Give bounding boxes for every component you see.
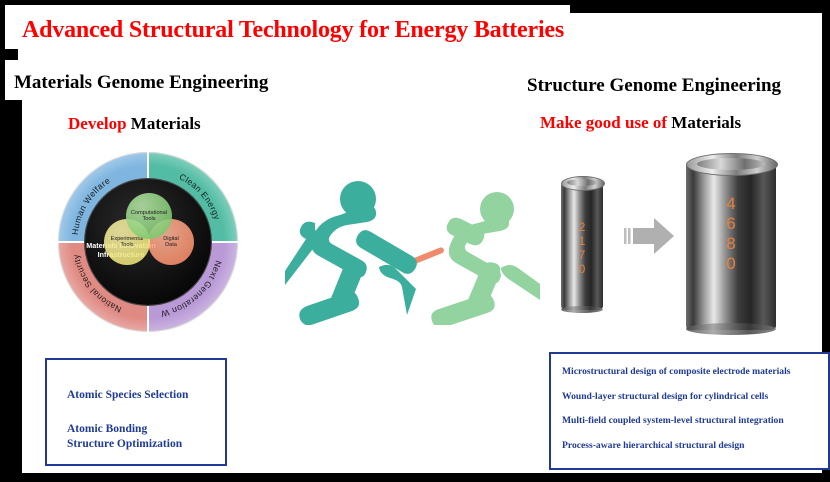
- battery-cell-4680: 4680: [686, 162, 776, 330]
- left-outcome-line-2a: Atomic Bonding: [67, 422, 182, 437]
- battery-2170-label: 2170: [561, 220, 603, 277]
- left-column-heading: Materials Genome Engineering: [14, 72, 268, 94]
- list-item: Multi-field coupled system-level structu…: [562, 415, 820, 426]
- materials-innovation-infographic: Human Welfare Clean Energy Next Generati…: [58, 152, 238, 332]
- battery-cell-2170: 2170: [561, 182, 603, 310]
- right-column-heading: Structure Genome Engineering: [527, 75, 781, 97]
- page-title: Advanced Structural Technology for Energ…: [22, 17, 564, 44]
- battery-4680-label: 4680: [686, 194, 776, 274]
- relay-baton-pass-icon: [285, 175, 540, 325]
- runner-receiving: [431, 192, 540, 325]
- right-column-subheading: Make good use of Materials: [540, 113, 741, 133]
- runner-handing-off: [285, 181, 417, 325]
- battery-4680-terminal: [697, 158, 765, 170]
- venn-label-computational-2: Tools: [131, 216, 167, 222]
- list-item: Wound-layer structural design for cylind…: [562, 391, 820, 402]
- slide-frame: Advanced Structural Technology for Energ…: [0, 0, 830, 482]
- left-outcome-line-2b: Structure Optimization: [67, 437, 182, 452]
- right-outcome-box: Microstructural design of composite elec…: [549, 352, 830, 470]
- left-outcome-group-2: Atomic Bonding Structure Optimization: [67, 422, 182, 451]
- left-subheading-rest: Materials: [127, 114, 201, 133]
- right-arrow-icon: [624, 212, 676, 260]
- battery-2170-terminal: [567, 179, 597, 186]
- slide-content: Advanced Structural Technology for Energ…: [0, 0, 830, 482]
- left-outcome-box: Atomic Species Selection Atomic Bonding …: [45, 358, 227, 466]
- battery-2170-base: [561, 306, 603, 313]
- venn-circle-computational-tools: Computational Tools: [126, 193, 172, 239]
- venn-label-experimental-2: Tools: [111, 242, 144, 248]
- right-outcome-list: Microstructural design of composite elec…: [562, 366, 820, 464]
- battery-4680-base: [686, 323, 776, 335]
- left-subheading-highlight: Develop: [68, 114, 127, 133]
- right-subheading-rest: Materials: [667, 113, 741, 132]
- right-subheading-highlight: Make good use of: [540, 113, 667, 132]
- left-column-subheading: Develop Materials: [68, 114, 201, 134]
- battery-evolution-illustration: 2170 4680: [556, 162, 826, 337]
- venn-label-digital-2: Data: [163, 242, 179, 248]
- list-item: Microstructural design of composite elec…: [562, 366, 820, 377]
- list-item: Process-aware hierarchical structural de…: [562, 440, 820, 451]
- left-outcome-line-1: Atomic Species Selection: [67, 388, 188, 403]
